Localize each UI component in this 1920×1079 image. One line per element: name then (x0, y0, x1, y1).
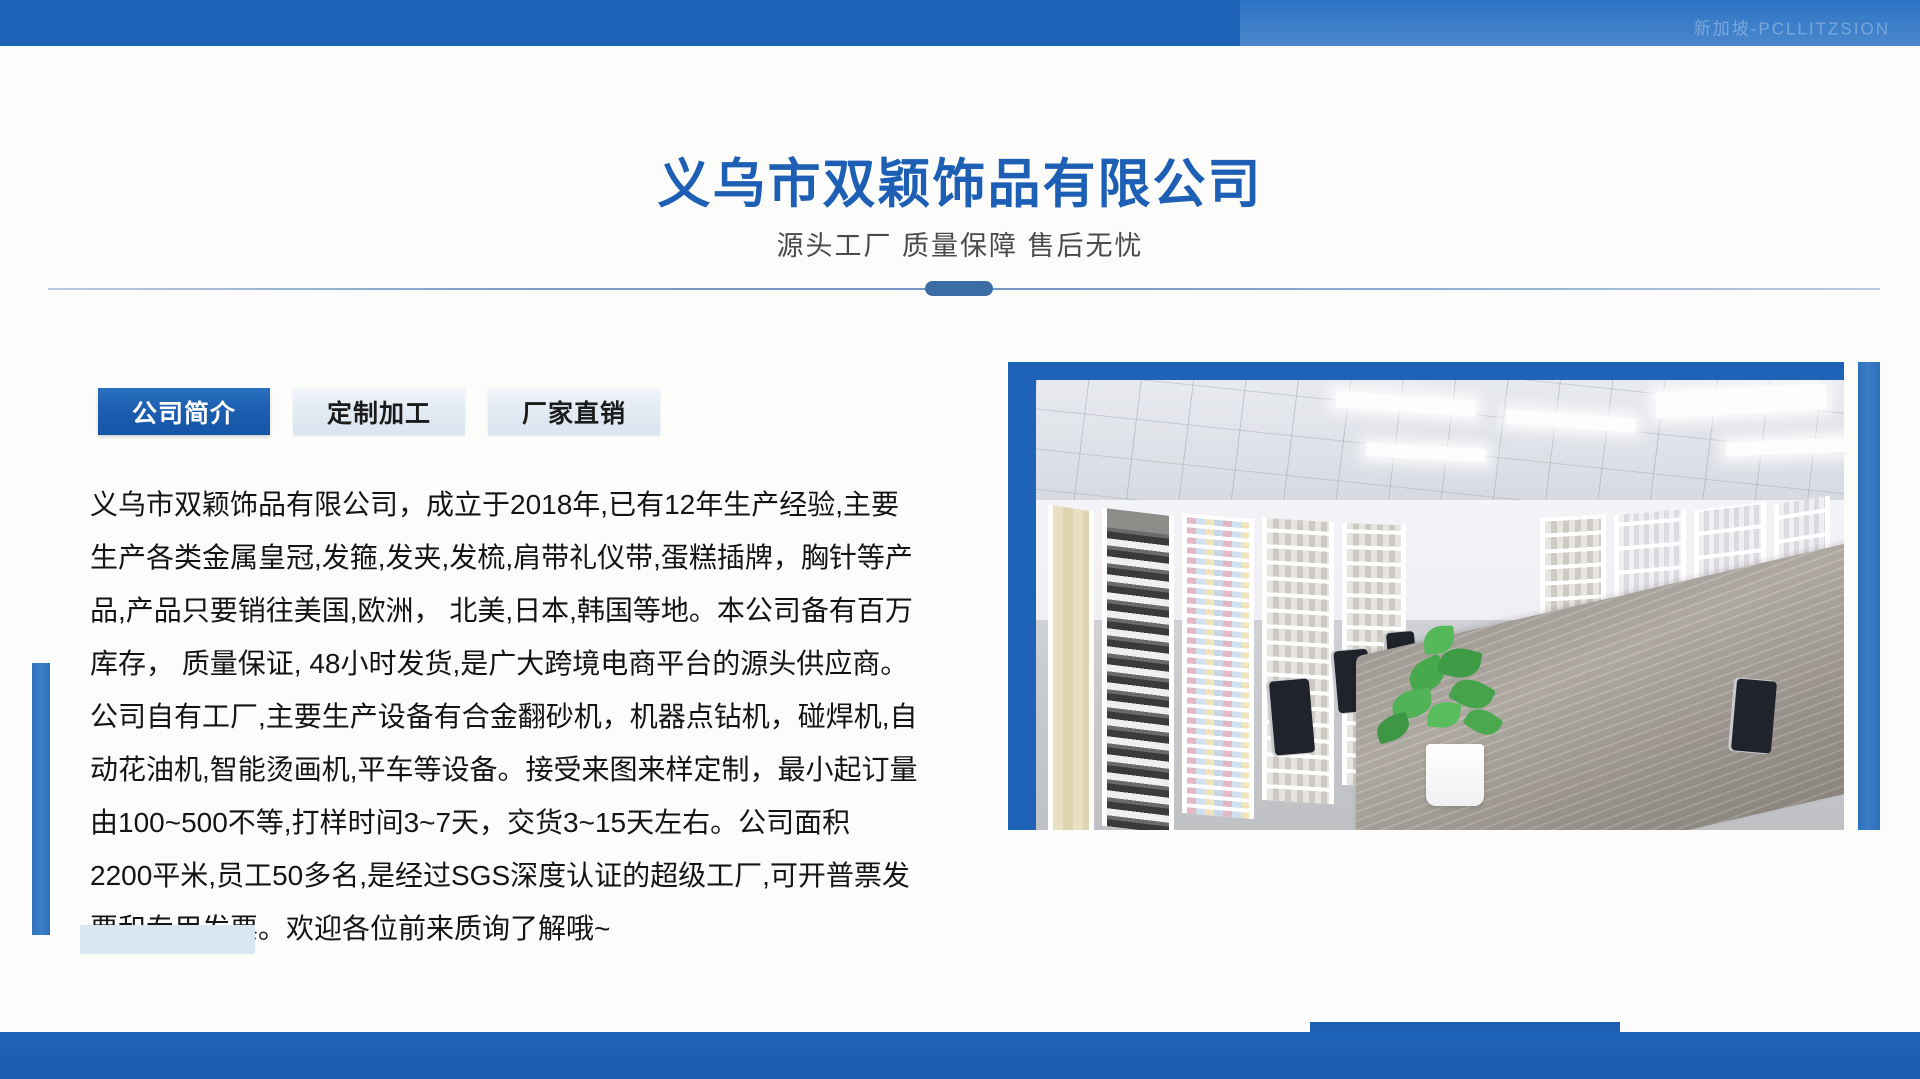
display-goods (1053, 505, 1089, 830)
showroom-photo-frame (1008, 362, 1844, 830)
display-bay (1262, 518, 1334, 804)
intro-line: 生产各类金属皇冠,发箍,发夹,发梳,肩带礼仪带,蛋糕插牌，胸针等产 (90, 531, 970, 584)
display-bay (1102, 508, 1174, 830)
display-goods (1267, 518, 1329, 804)
intro-line: 品,产品只要销往美国,欧洲， 北美,日本,韩国等地。本公司备有百万 (90, 584, 970, 637)
office-chair (1731, 678, 1777, 753)
intro-line: 2200平米,员工50多名,是经过SGS深度认证的超级工厂,可开普票发 (90, 849, 970, 902)
page-root: 新加坡-PCLLITZSION 义乌市双颖饰品有限公司 源头工厂 质量保障 售后… (0, 0, 1920, 1079)
office-chair (1269, 678, 1315, 755)
intro-line: 公司自有工厂,主要生产设备有合金翻砂机，机器点钻机，碰焊机,自 (90, 690, 970, 743)
showroom-photo (1036, 380, 1844, 830)
display-bay (1048, 504, 1094, 830)
tab-company-profile[interactable]: 公司简介 (98, 388, 270, 435)
intro-line: 库存， 质量保证, 48小时发货,是广大跨境电商平台的源头供应商。 (90, 637, 970, 690)
tab-bar: 公司简介 定制加工 厂家直销 (98, 388, 660, 435)
intro-line: 义乌市双颖饰品有限公司，成立于2018年,已有12年生产经验,主要 (90, 478, 970, 531)
page-title: 义乌市双颖饰品有限公司 (0, 142, 1920, 218)
bottom-band-step (1310, 1022, 1620, 1032)
display-goods (1187, 513, 1249, 818)
page-header: 义乌市双颖饰品有限公司 源头工厂 质量保障 售后无忧 (0, 46, 1920, 288)
left-accent-bar (32, 663, 50, 935)
page-tagline: 源头工厂 质量保障 售后无忧 (0, 224, 1920, 263)
top-blue-band: 新加坡-PCLLITZSION (0, 0, 1920, 46)
display-goods (1107, 508, 1169, 830)
right-accent-bar (1858, 362, 1880, 830)
company-intro-text: 义乌市双颖饰品有限公司，成立于2018年,已有12年生产经验,主要 生产各类金属… (90, 478, 970, 955)
header-divider-accent (925, 281, 993, 296)
bottom-left-accent-chip (80, 925, 255, 954)
watermark-text: 新加坡-PCLLITZSION (1694, 13, 1890, 39)
bottom-blue-band (0, 1032, 1920, 1079)
tab-factory-direct[interactable]: 厂家直销 (488, 388, 660, 435)
intro-line: 动花油机,智能烫画机,平车等设备。接受来图来样定制，最小起订量 (90, 743, 970, 796)
intro-line: 由100~500不等,打样时间3~7天，交货3~15天左右。公司面积 (90, 796, 970, 849)
display-bay (1182, 513, 1254, 819)
tab-custom-processing[interactable]: 定制加工 (293, 388, 465, 435)
plant-pot (1426, 744, 1484, 806)
